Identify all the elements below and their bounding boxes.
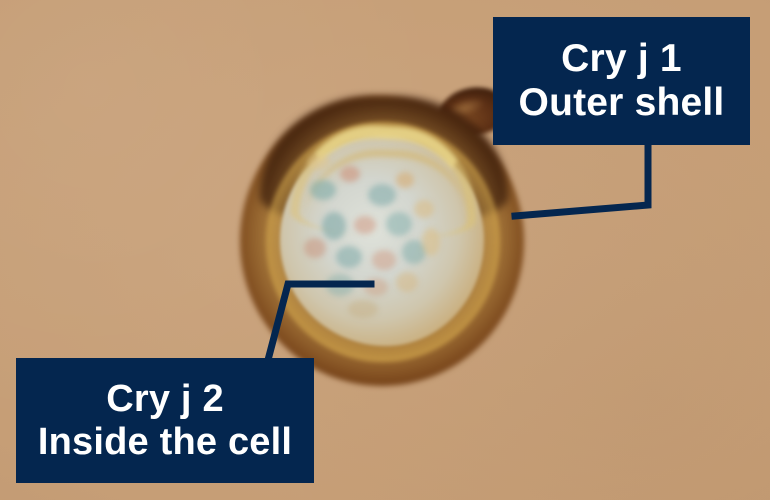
callout-cry-j-1: Cry j 1 Outer shell xyxy=(493,17,750,145)
callout-cry-j-1-line1: Cry j 1 xyxy=(561,37,682,81)
micrograph-figure: Cry j 1 Outer shell Cry j 2 Inside the c… xyxy=(0,0,770,500)
callout-cry-j-2-line1: Cry j 2 xyxy=(106,378,224,421)
callout-cry-j-2: Cry j 2 Inside the cell xyxy=(16,358,314,483)
callout-cry-j-1-line2: Outer shell xyxy=(519,81,725,125)
pollen-grain xyxy=(236,88,528,388)
callout-cry-j-2-line2: Inside the cell xyxy=(38,421,292,464)
